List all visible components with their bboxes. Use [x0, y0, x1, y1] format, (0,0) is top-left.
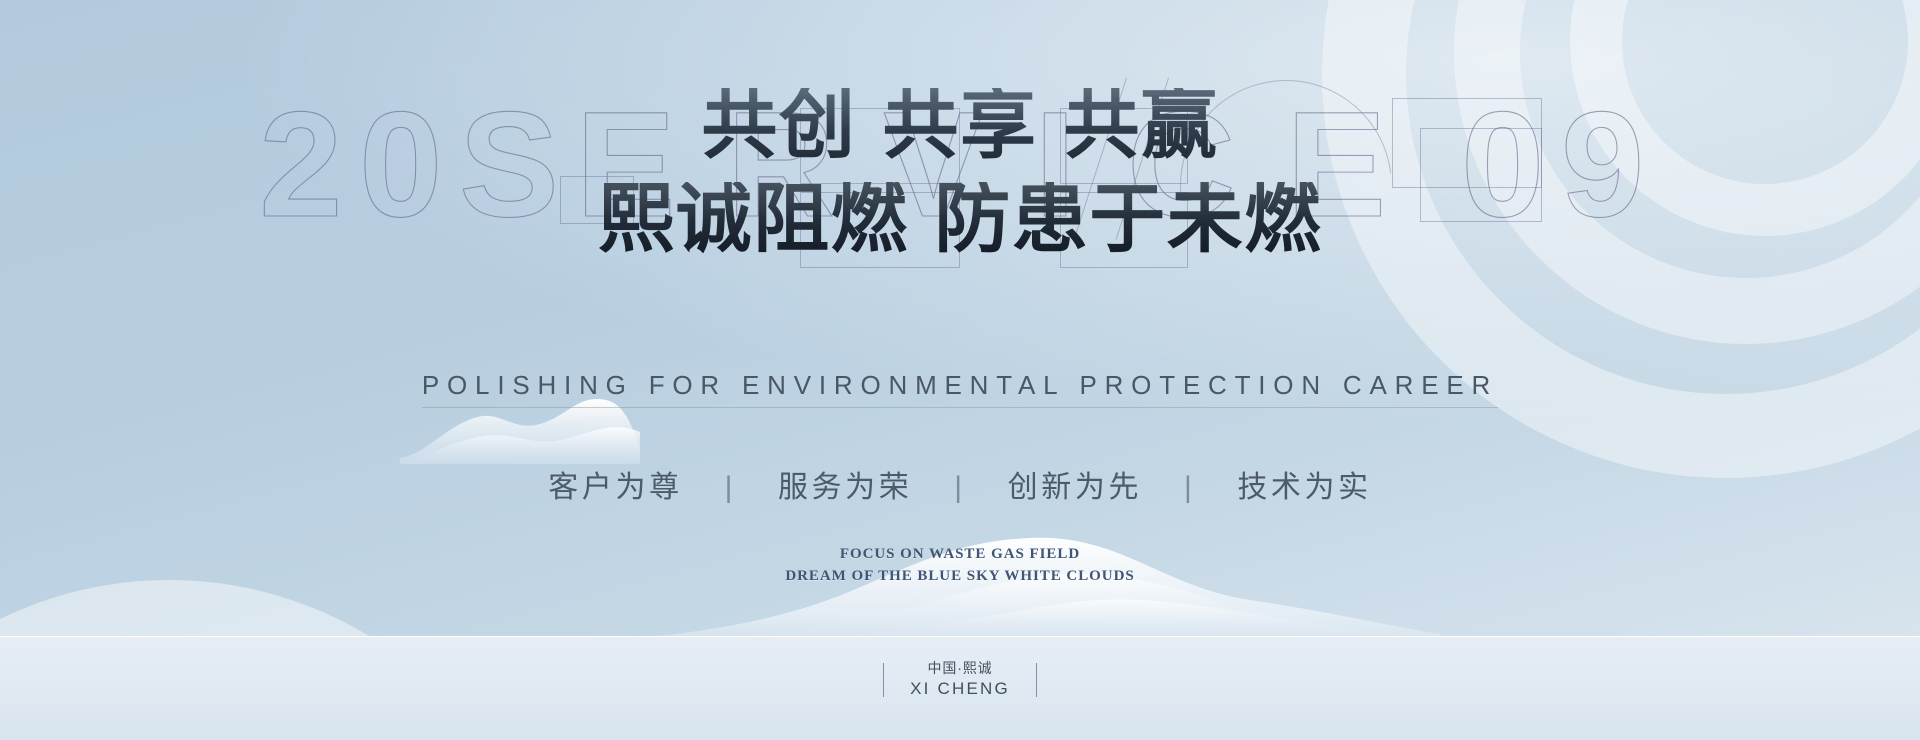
promotional-banner: 20SERVICE 09	[0, 0, 1920, 740]
values-row: 客户为尊 | 服务为荣 | 创新为先 | 技术为实	[0, 462, 1920, 506]
brand-divider-left	[883, 663, 884, 697]
headline-line-2: 熙诚阻燃防患于未燃	[0, 182, 1920, 260]
value-item-2: 服务为荣	[778, 462, 912, 506]
value-item-4: 技术为实	[1237, 462, 1371, 506]
value-item-3: 创新为先	[1008, 462, 1142, 506]
headline-word-3: 共赢	[1064, 84, 1219, 168]
brand-name-en: XI CHENG	[910, 678, 1010, 700]
headline-phrase-1: 熙诚阻燃	[598, 178, 908, 262]
micro-tagline-line-2: DREAM OF THE BLUE SKY WHITE CLOUDS	[0, 566, 1920, 588]
value-separator-2: |	[954, 471, 965, 505]
brand-divider-right	[1036, 663, 1037, 697]
brand-lockup: 中国·熙诚 XI CHENG	[0, 660, 1920, 700]
micro-tagline-line-1: FOCUS ON WASTE GAS FIELD	[0, 544, 1920, 566]
headline-word-1: 共创	[701, 84, 856, 168]
value-separator-3: |	[1184, 471, 1195, 505]
micro-tagline-block: FOCUS ON WASTE GAS FIELD DREAM OF THE BL…	[0, 544, 1920, 588]
strapline: POLISHING FOR ENVIRONMENTAL PROTECTION C…	[0, 370, 1920, 408]
headline-word-2: 共享	[882, 84, 1037, 168]
brand-text: 中国·熙诚 XI CHENG	[910, 660, 1010, 700]
brand-name-cn: 中国·熙诚	[910, 660, 1010, 678]
value-separator-1: |	[725, 471, 736, 505]
headline-line-1: 共创共享共赢	[0, 88, 1920, 166]
value-item-1: 客户为尊	[548, 462, 682, 506]
headline-phrase-2: 防患于未燃	[934, 178, 1322, 262]
strapline-text: POLISHING FOR ENVIRONMENTAL PROTECTION C…	[422, 370, 1498, 408]
headline-block: 共创共享共赢 熙诚阻燃防患于未燃	[0, 88, 1920, 259]
